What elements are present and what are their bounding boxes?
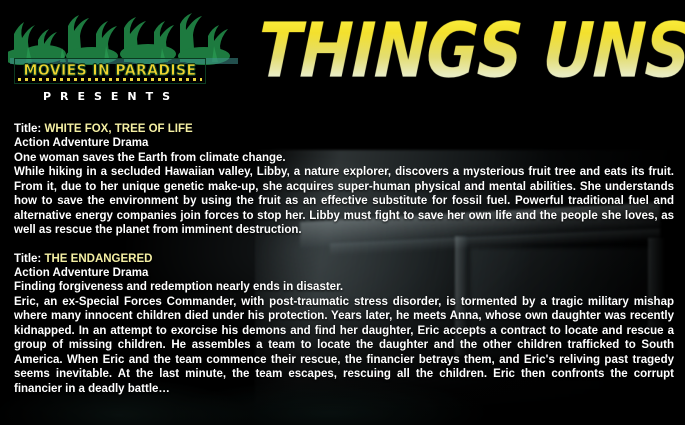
film-tagline: One woman saves the Earth from climate c… — [14, 151, 674, 166]
film-entry: Title: THE ENDANGERED Action Adventure D… — [14, 252, 674, 397]
film-name: WHITE FOX, TREE OF LIFE — [44, 123, 192, 135]
jungle-silhouette-icon — [8, 4, 240, 66]
synopsis-container: Title: WHITE FOX, TREE OF LIFE Action Ad… — [0, 118, 685, 425]
poster-header: MOVIES IN PARADISE PRESENTS THINGS UNSEE… — [0, 0, 685, 118]
film-entry: Title: WHITE FOX, TREE OF LIFE Action Ad… — [14, 122, 674, 238]
film-synopsis: Eric, an ex-Special Forces Commander, wi… — [14, 295, 674, 397]
presents-label: PRESENTS — [16, 90, 206, 103]
film-title-line: Title: THE ENDANGERED — [14, 252, 674, 266]
film-title-line: Title: WHITE FOX, TREE OF LIFE — [14, 122, 674, 136]
studio-logo-banner: MOVIES IN PARADISE — [14, 58, 206, 84]
film-synopsis: While hiking in a secluded Hawaiian vall… — [14, 165, 674, 238]
film-genre: Action Adventure Drama — [14, 266, 674, 281]
film-tagline: Finding forgiveness and redemption nearl… — [14, 280, 674, 295]
film-title-label: Title: — [14, 253, 41, 265]
studio-name: MOVIES IN PARADISE — [24, 63, 197, 80]
film-title-label: Title: — [14, 123, 41, 135]
film-genre: Action Adventure Drama — [14, 136, 674, 151]
feature-title-text: THINGS UNSEEN — [256, 13, 685, 89]
feature-title: THINGS UNSEEN — [258, 8, 678, 94]
film-name: THE ENDANGERED — [44, 253, 152, 265]
